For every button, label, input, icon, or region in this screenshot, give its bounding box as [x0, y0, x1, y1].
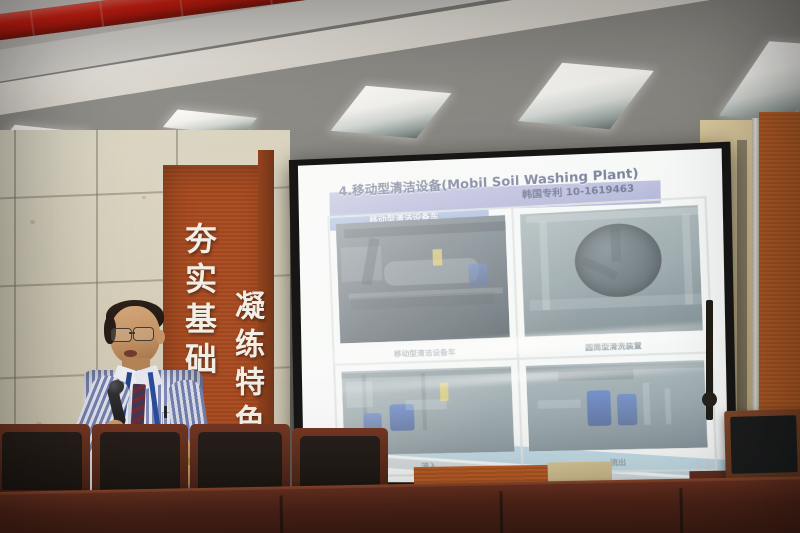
chair-seatback	[100, 432, 180, 490]
pen-icon	[164, 406, 167, 418]
monitor-screen	[730, 415, 797, 474]
grid-photo	[336, 215, 510, 344]
grid-cell: 流出	[518, 352, 716, 473]
chair-seatback	[2, 432, 82, 490]
ear	[156, 330, 165, 344]
grid-cell: 移动型清洁设备车	[328, 207, 518, 364]
chair-seatback	[300, 436, 380, 490]
screen-mount-knob	[702, 392, 717, 407]
banner-text-column-2: 凝练特色	[224, 290, 268, 442]
chair-seatback	[198, 432, 282, 490]
grid-photo	[520, 205, 703, 337]
grid-cell: 圆筒型清洗装置	[512, 197, 711, 359]
glasses-lens-left	[111, 328, 132, 342]
glasses-bridge	[129, 332, 135, 334]
monitor[interactable]	[724, 409, 800, 486]
grid-photo	[526, 360, 708, 451]
conference-hall-photo: 夯实基础 凝练特色 4.移动型清洁设备(Mobil Soil Washing P…	[0, 0, 800, 533]
mouth	[124, 350, 137, 357]
glasses-lens-right	[133, 327, 154, 341]
